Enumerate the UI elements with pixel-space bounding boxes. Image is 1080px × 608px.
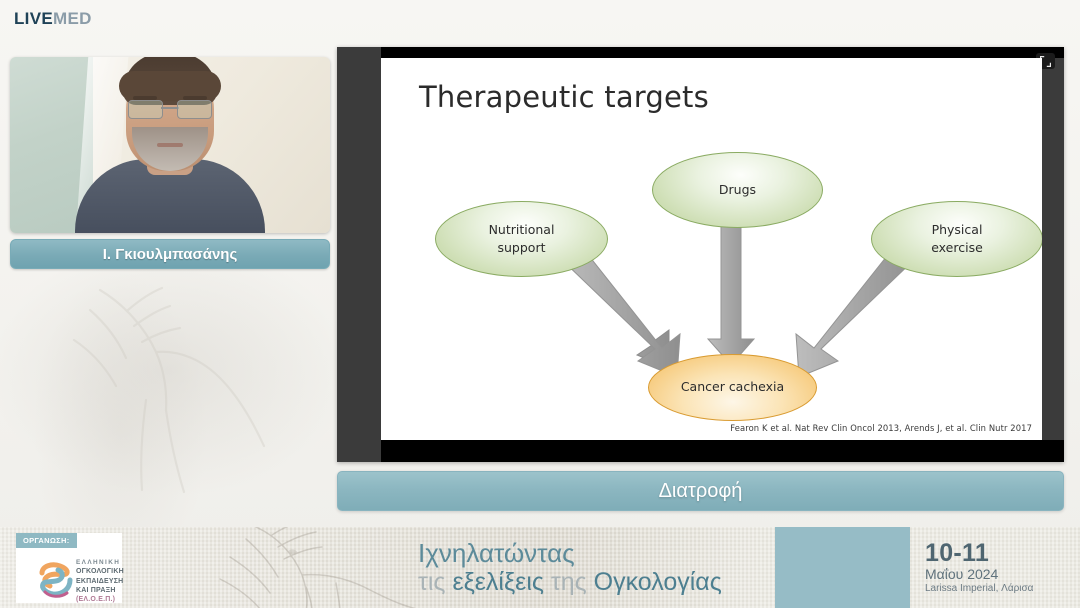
congress-banner: ΕΛΛΗΝΙΚΗ ΟΓΚΟΛΟΓΙΚΗ ΕΚΠΑΙΔΕΥΣΗ ΚΑΙ ΠΡΑΞΗ… (0, 527, 1080, 608)
org-line-5: (ΕΛ.Ο.Ε.Π.) (76, 595, 124, 604)
organizer-label: ΟΡΓΑΝΩΣΗ: (16, 533, 77, 548)
congress-title-line2: τις εξελίξεις της Ογκολογίας (418, 568, 722, 596)
arrow-drugs-to-cachexia (708, 226, 754, 365)
congress-title-line1: Ιχνηλατώντας (418, 539, 722, 568)
org-line-1: ΕΛΛΗΝΙΚΗ (76, 559, 124, 567)
congress-title: Ιχνηλατώντας τις εξελίξεις της Ογκολογία… (418, 539, 722, 596)
node-label-line1: Drugs (719, 181, 756, 199)
speaker-card[interactable]: Ι. Γκιουλμπασάνης (10, 57, 330, 269)
node-label-line2: exercise (931, 239, 983, 257)
diagram-node-nutritional-support: Nutritional support (435, 201, 608, 277)
eloep-logo-icon (36, 560, 76, 600)
horse-watermark (30, 280, 310, 530)
diagram-node-drugs: Drugs (652, 152, 823, 228)
node-label-line2: support (498, 239, 546, 257)
node-label-line1: Physical (932, 221, 983, 239)
congress-title-tis: τις (418, 568, 445, 596)
congress-venue: Larissa Imperial, Λάρισα (925, 583, 1033, 594)
page-background: LIVEMED Ι. Γκιουλμπασάνης (0, 0, 1080, 608)
speaker-glasses (128, 100, 212, 117)
congress-title-exelixeis: εξελίξεις (452, 568, 543, 596)
banner-teal-block (775, 527, 910, 608)
speaker-mouth (157, 143, 183, 147)
org-line-4: ΚΑΙ ΠΡΑΞΗ (76, 586, 124, 595)
slide-citation: Fearon K et al. Nat Rev Clin Oncol 2013,… (730, 423, 1032, 433)
player-letterbox-bottom (381, 440, 1064, 462)
congress-date-block: 10-11 Μαΐου 2024 Larissa Imperial, Λάρισ… (925, 539, 1033, 594)
player-letterbox-top (381, 47, 1064, 58)
congress-title-tis2: της (551, 568, 587, 596)
logo-med-text: MED (53, 9, 92, 28)
livemed-logo: LIVEMED (14, 10, 92, 27)
org-line-2: ΟΓΚΟΛΟΓΙΚΗ (76, 567, 124, 576)
congress-date-month: Μαΐου 2024 (925, 567, 1033, 583)
congress-date-range: 10-11 (925, 539, 1033, 567)
node-label-line1: Cancer cachexia (681, 378, 784, 396)
node-label-line1: Nutritional (489, 221, 555, 239)
org-line-3: ΕΚΠΑΙΔΕΥΣΗ (76, 577, 124, 586)
congress-title-ogkologias: Ογκολογίας (594, 568, 722, 596)
logo-live-text: LIVE (14, 9, 53, 28)
diagram-node-physical-exercise: Physical exercise (871, 201, 1042, 277)
diagram-node-cancer-cachexia: Cancer cachexia (648, 354, 817, 421)
organizer-name-text: ΕΛΛΗΝΙΚΗ ΟΓΚΟΛΟΓΙΚΗ ΕΚΠΑΙΔΕΥΣΗ ΚΑΙ ΠΡΑΞΗ… (76, 559, 124, 604)
speaker-name-label: Ι. Γκιουλμπασάνης (10, 239, 330, 269)
slide-content: Therapeutic targets (381, 58, 1042, 440)
banner-horse-sketch (160, 527, 450, 608)
slide-title: Therapeutic targets (419, 80, 709, 114)
section-title-bar: Διατροφή (337, 471, 1064, 511)
speaker-webcam-video[interactable] (10, 57, 330, 233)
slide-player[interactable]: Therapeutic targets (337, 47, 1064, 462)
